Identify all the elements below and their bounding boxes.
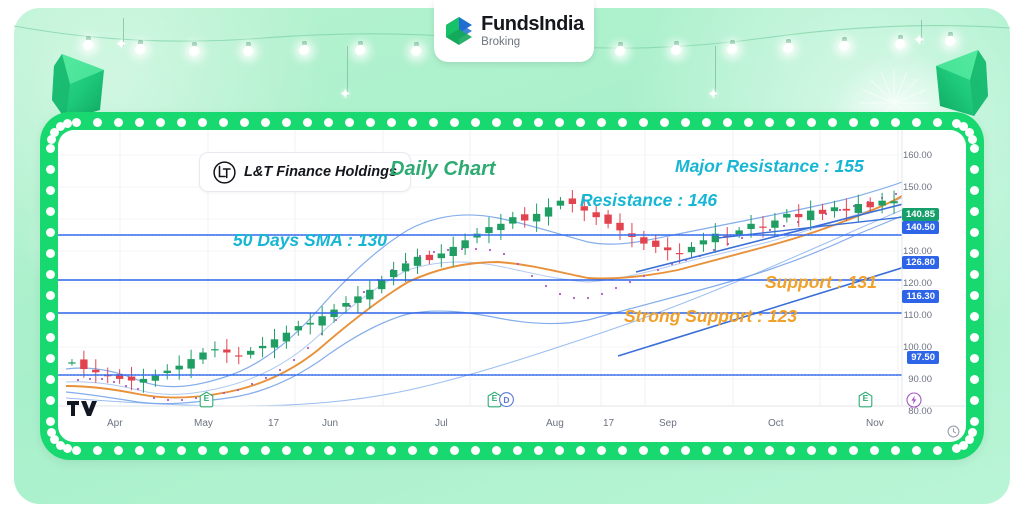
last-price-badge: 140.85 [902, 208, 939, 221]
time-tick-sep: Sep [659, 418, 677, 429]
hanging-star-ornament: ✦ [122, 18, 124, 46]
time-tick-may: May [194, 418, 213, 429]
time-tick-17b: 17 [603, 418, 614, 429]
price-tick: 160.00 [903, 150, 932, 161]
level-badge-116-30: 116.30 [902, 290, 939, 303]
tradingview-watermark [66, 395, 110, 419]
time-tick-apr: Apr [107, 418, 123, 429]
annotation-resistance: Resistance : 146 [580, 190, 717, 211]
stock-name-label: L&T Finance Holdings [244, 164, 397, 180]
lt-circle-logo-icon [213, 161, 236, 184]
price-tick: 90.00 [908, 374, 932, 385]
brand-name: FundsIndia [481, 14, 584, 34]
annotation-support: Support : 131 [765, 272, 877, 293]
time-tick-nov: Nov [866, 418, 884, 429]
fundsindia-diamond-icon [444, 15, 474, 47]
clock-icon[interactable] [947, 425, 960, 438]
level-badge-97-50: 97.50 [907, 351, 939, 364]
annotation-sma-50: 50 Days SMA : 130 [233, 230, 387, 251]
lightning-bolt-icon [906, 392, 922, 408]
earnings-marker[interactable]: E [199, 391, 214, 408]
level-badge-126-80: 126.80 [902, 256, 939, 269]
time-tick-oct: Oct [768, 418, 784, 429]
earnings-marker-label: E [858, 393, 873, 403]
chart-card: L&T Finance Holdings Daily Chart Major R… [58, 130, 966, 442]
brand-logo-card: FundsIndia Broking [434, 0, 594, 62]
screenshot-root: ✦ ✦ ✦ ✦ [0, 0, 1024, 512]
earnings-marker-label: E [199, 393, 214, 403]
price-tick: 120.00 [903, 278, 932, 289]
hanging-star-ornament: ✦ [346, 46, 348, 96]
dividend-marker[interactable]: D [499, 391, 514, 408]
brand-subtitle: Broking [481, 37, 584, 49]
price-tick: 150.00 [903, 182, 932, 193]
hanging-star-ornament: ✦ [920, 20, 922, 42]
earnings-marker[interactable]: E [858, 391, 873, 408]
time-tick-aug: Aug [546, 418, 564, 429]
dividend-marker-label: D [499, 395, 514, 405]
split-bolt-marker[interactable] [906, 392, 922, 408]
annotation-strong-support: Strong Support : 123 [624, 306, 797, 327]
hanging-star-ornament: ✦ [714, 46, 716, 96]
time-tick-jul: Jul [435, 418, 448, 429]
time-tick-17a: 17 [268, 418, 279, 429]
stock-name-chip[interactable]: L&T Finance Holdings [199, 152, 411, 192]
chart-type-label: Daily Chart [390, 158, 496, 181]
level-badge-140-50: 140.50 [902, 221, 939, 234]
time-tick-jun: Jun [322, 418, 338, 429]
bunting-flag-right [930, 44, 994, 122]
annotation-major-resistance: Major Resistance : 155 [675, 156, 864, 177]
price-tick: 110.00 [904, 310, 932, 321]
